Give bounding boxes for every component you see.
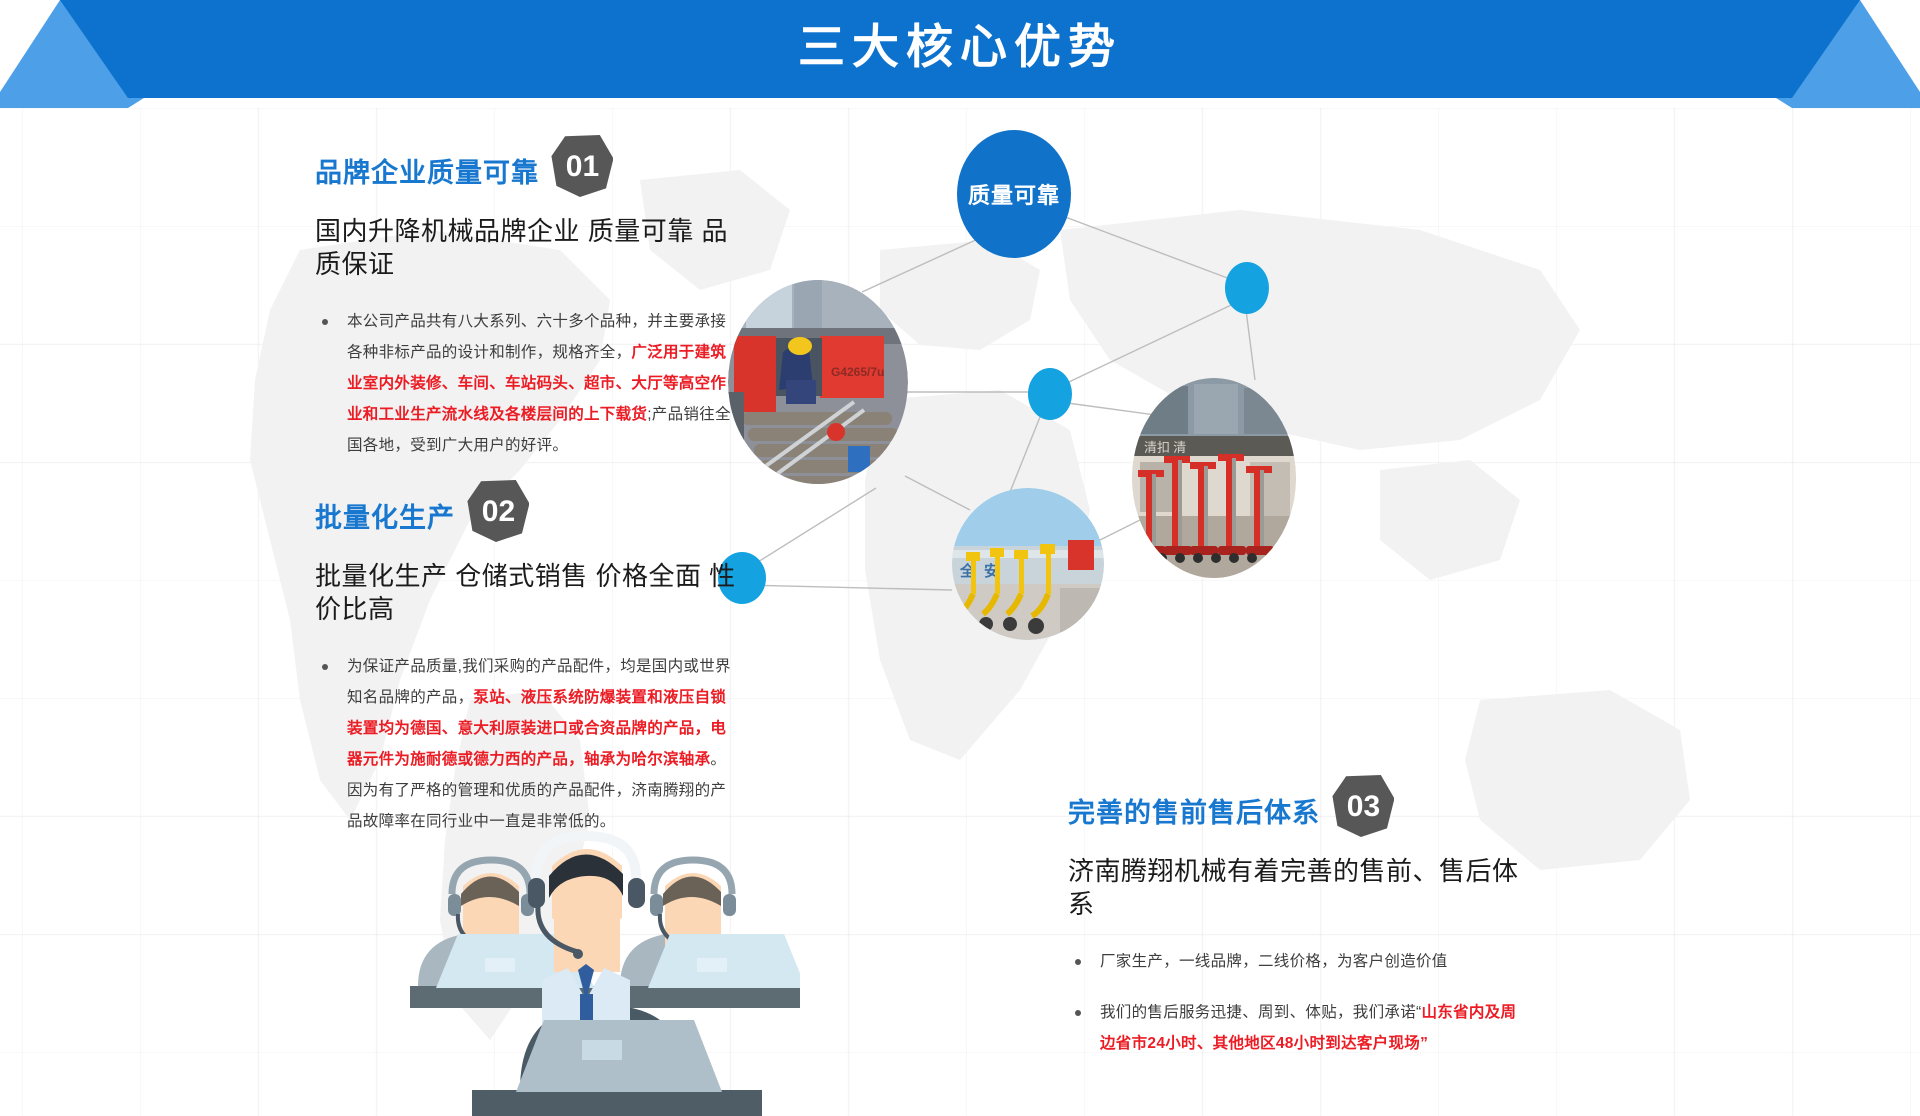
svg-text:清扣 清: 清扣 清 xyxy=(1144,440,1186,455)
section-03-number: 03 xyxy=(1332,776,1394,838)
agent-right xyxy=(620,860,800,1008)
section-02-number: 02 xyxy=(467,481,529,543)
svg-text:全安: 全安 xyxy=(959,562,1008,580)
link-node-right-to-storefront xyxy=(1246,310,1255,380)
feature-section-03: 完善的售前售后体系 03 济南腾翔机械有着完善的售前、售后体系 厂家生产，一线品… xyxy=(1068,775,1538,1079)
section-01-title: 品牌企业质量可靠 xyxy=(315,159,539,189)
section-02-title: 批量化生产 xyxy=(315,504,455,534)
section-02-badge: 02 xyxy=(467,480,529,542)
link-main-to-node-right xyxy=(1052,212,1246,285)
section-01-number: 01 xyxy=(551,136,613,198)
factory-worker-sawing-photo: G4265/7u xyxy=(728,280,908,485)
yellow-boom-lifts-yard-photo: 全安 xyxy=(952,488,1104,640)
section-03-header: 完善的售前售后体系 03 xyxy=(1068,775,1538,853)
node-right-top xyxy=(1225,262,1269,314)
red-mast-lifts-storefront-photo: 清扣 清 xyxy=(1132,378,1296,578)
quality-network-diagram: 质量可靠 G4265/7u xyxy=(680,120,1320,640)
main-quality-bubble: 质量可靠 xyxy=(957,130,1071,258)
page-title-text: 三大核心优势 xyxy=(798,20,1122,73)
section-02-header: 批量化生产 02 xyxy=(315,480,745,558)
list-item: 厂家生产，一线品牌，二线价格，为客户创造价值 xyxy=(1068,946,1528,977)
list-item: 我们的售后服务迅捷、周到、体贴，我们承诺“山东省内及周边省市24小时、其他地区4… xyxy=(1068,997,1528,1059)
section-01-bullets: 本公司产品共有八大系列、六十多个品种，并主要承接各种非标产品的设计和制作，规格齐… xyxy=(315,306,745,461)
section-03-title: 完善的售前售后体系 xyxy=(1068,799,1320,829)
bullet-text-normal: 厂家生产，一线品牌，二线价格，为客户创造价值 xyxy=(1100,953,1448,970)
link-factory-to-node-left xyxy=(742,488,876,572)
bullet-text-normal-a: 我们的售后服务迅捷、周到、体贴，我们承诺“ xyxy=(1100,1004,1421,1021)
section-01-badge: 01 xyxy=(551,135,613,197)
bullet-text-normal-b: ” xyxy=(1420,1035,1428,1052)
banner-shape-overlay: 三大核心优势 xyxy=(0,0,1920,108)
svg-text:G4265/7u: G4265/7u xyxy=(831,365,884,379)
feature-section-01: 品牌企业质量可靠 01 国内升降机械品牌企业 质量可靠 品质保证 本公司产品共有… xyxy=(315,135,745,481)
call-center-agents-illustration xyxy=(330,790,800,1116)
link-node-right-to-center xyxy=(1052,298,1246,390)
section-03-subtitle: 济南腾翔机械有着完善的售前、售后体系 xyxy=(1068,855,1538,920)
main-bubble-label: 质量可靠 xyxy=(968,178,1060,210)
link-center-to-boomlift xyxy=(1010,412,1042,492)
link-node-left-to-boomlift xyxy=(742,585,952,590)
section-03-bullets: 厂家生产，一线品牌，二线价格，为客户创造价值 我们的售后服务迅捷、周到、体贴，我… xyxy=(1068,946,1538,1059)
section-01-header: 品牌企业质量可靠 01 xyxy=(315,135,745,213)
list-item: 本公司产品共有八大系列、六十多个品种，并主要承接各种非标产品的设计和制作，规格齐… xyxy=(315,306,735,461)
section-01-subtitle: 国内升降机械品牌企业 质量可靠 品质保证 xyxy=(315,215,745,280)
node-center xyxy=(1028,368,1072,420)
section-03-badge: 03 xyxy=(1332,775,1394,837)
section-02-subtitle: 批量化生产 仓储式销售 价格全面 性价比高 xyxy=(315,560,745,625)
